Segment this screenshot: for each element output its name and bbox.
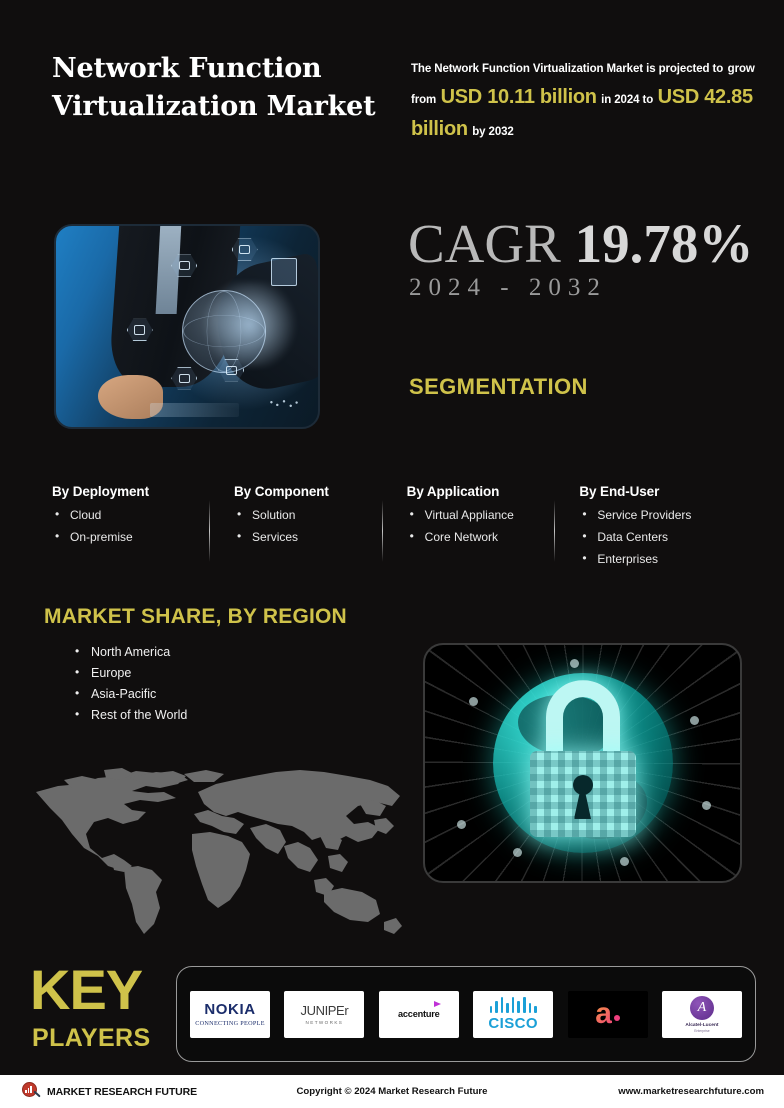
page-footer: MARKET RESEARCH FUTURE Copyright © 2024 …: [0, 1075, 784, 1108]
world-map-icon: [28, 762, 408, 940]
segment-column-end-user: By End-User Service Providers Data Cente…: [569, 484, 742, 574]
value-2024: USD 10.11 billion: [441, 86, 597, 108]
hero-tray-shape: [150, 403, 239, 417]
logo-accenture-label: accenture: [398, 1009, 440, 1019]
footer-brand: MARKET RESEARCH FUTURE: [22, 1082, 197, 1101]
footer-url[interactable]: www.marketresearchfuture.com: [618, 1086, 764, 1097]
footer-copyright: Copyright © 2024 Market Research Future: [296, 1086, 487, 1097]
logo-avaya-mark: a: [595, 999, 620, 1029]
market-share-region-list: North America Europe Asia-Pacific Rest o…: [72, 645, 187, 729]
padlock-shackle-icon: [546, 680, 620, 754]
blurb-by-2032: by 2032: [472, 126, 514, 138]
hero-image-network-interface: [54, 224, 320, 429]
market-share-heading: MARKET SHARE, BY REGION: [44, 605, 347, 629]
network-node-icon: [702, 801, 711, 810]
accenture-arrow-icon: [434, 1001, 441, 1007]
blurb-in-2024: in 2024 to: [601, 94, 653, 106]
column-divider: [382, 500, 383, 562]
network-node-icon: [570, 659, 579, 668]
list-item: Enterprises: [579, 552, 728, 566]
network-node-icon: [690, 716, 699, 725]
logo-bars: [25, 1086, 32, 1093]
segment-title: By Component: [234, 484, 383, 499]
logo-cisco-text: CISCO: [488, 1015, 538, 1032]
column-divider: [554, 500, 555, 562]
world-map-graphic: [28, 762, 408, 940]
logo-alcatel-sub: Enterprise: [694, 1029, 709, 1033]
key-players-heading-players: PLAYERS: [32, 1026, 151, 1051]
magnifier-chart-logo-icon: [22, 1082, 41, 1101]
list-item: North America: [72, 645, 187, 659]
hero-panel-icon: [271, 258, 297, 286]
key-players-heading-key: KEY: [30, 962, 142, 1018]
segment-column-component: By Component Solution Services: [224, 484, 397, 574]
cisco-bars-icon: [490, 997, 537, 1013]
segment-list: Virtual Appliance Core Network: [407, 508, 556, 544]
projection-statement: The Network Function Virtualization Mark…: [411, 55, 756, 146]
cagr-period: 2024 - 2032: [409, 274, 607, 302]
logo-juniper-text: JUNIPEr: [301, 1003, 349, 1018]
logo-alcatel-text: Alcatel-Lucent: [685, 1023, 718, 1028]
list-item: Virtual Appliance: [407, 508, 556, 522]
list-item: Cloud: [52, 508, 210, 522]
segmentation-columns: By Deployment Cloud On-premise By Compon…: [52, 484, 742, 574]
logo-alcatel-lucent: A Alcatel-Lucent Enterprise: [662, 991, 742, 1038]
logo-cisco: CISCO: [473, 991, 553, 1038]
padlock-body-icon: [530, 751, 636, 837]
list-item: Core Network: [407, 530, 556, 544]
segment-list: Cloud On-premise: [52, 508, 210, 544]
hero-globe-icon: [182, 290, 266, 372]
logo-accenture-text: accenture: [398, 1009, 440, 1019]
logo-juniper: JUNIPEr NETWORKS: [284, 991, 364, 1038]
logo-nokia: NOKIA CONNECTING PEOPLE: [190, 991, 270, 1038]
segmentation-heading: SEGMENTATION: [409, 374, 588, 400]
avaya-dot-icon: [614, 1015, 620, 1021]
segment-list: Solution Services: [234, 508, 383, 544]
list-item: Asia-Pacific: [72, 687, 187, 701]
cagr-display: CAGR 19.78%: [408, 216, 768, 271]
list-item: Rest of the World: [72, 708, 187, 722]
logo-nokia-tagline: CONNECTING PEOPLE: [195, 1020, 265, 1027]
logo-accenture: accenture: [379, 991, 459, 1038]
list-item: Europe: [72, 666, 187, 680]
segment-title: By Application: [407, 484, 556, 499]
list-item: Service Providers: [579, 508, 728, 522]
network-node-icon: [457, 820, 466, 829]
logo-nokia-text: NOKIA: [204, 1001, 255, 1018]
page-title: Network Function Virtualization Market: [52, 50, 382, 127]
segment-column-application: By Application Virtual Appliance Core Ne…: [397, 484, 570, 574]
network-node-icon: [469, 697, 478, 706]
logo-juniper-tagline: NETWORKS: [306, 1020, 344, 1025]
cagr-value: 19.78%: [575, 213, 754, 274]
column-divider: [209, 500, 210, 562]
alcatel-circle-icon: A: [690, 996, 714, 1020]
logo-avaya-text: a: [595, 997, 612, 1030]
footer-brand-text: MARKET RESEARCH FUTURE: [47, 1086, 197, 1098]
segment-column-deployment: By Deployment Cloud On-premise: [52, 484, 224, 574]
blurb-line1: The Network Function Virtualization Mark…: [411, 63, 723, 75]
keyhole-icon: [573, 775, 593, 795]
hero-worldmap-dots-icon: [263, 395, 305, 413]
security-lock-image: [423, 643, 742, 883]
list-item: Services: [234, 530, 383, 544]
list-item: Solution: [234, 508, 383, 522]
segment-list: Service Providers Data Centers Enterpris…: [579, 508, 728, 566]
logo-avaya: a: [568, 991, 648, 1038]
infographic-poster: Network Function Virtualization Market T…: [0, 0, 784, 1075]
list-item: Data Centers: [579, 530, 728, 544]
segment-title: By Deployment: [52, 484, 210, 499]
segment-title: By End-User: [579, 484, 728, 499]
cagr-label: CAGR: [408, 213, 561, 274]
list-item: On-premise: [52, 530, 210, 544]
key-players-logo-strip: NOKIA CONNECTING PEOPLE JUNIPEr NETWORKS…: [176, 966, 756, 1062]
